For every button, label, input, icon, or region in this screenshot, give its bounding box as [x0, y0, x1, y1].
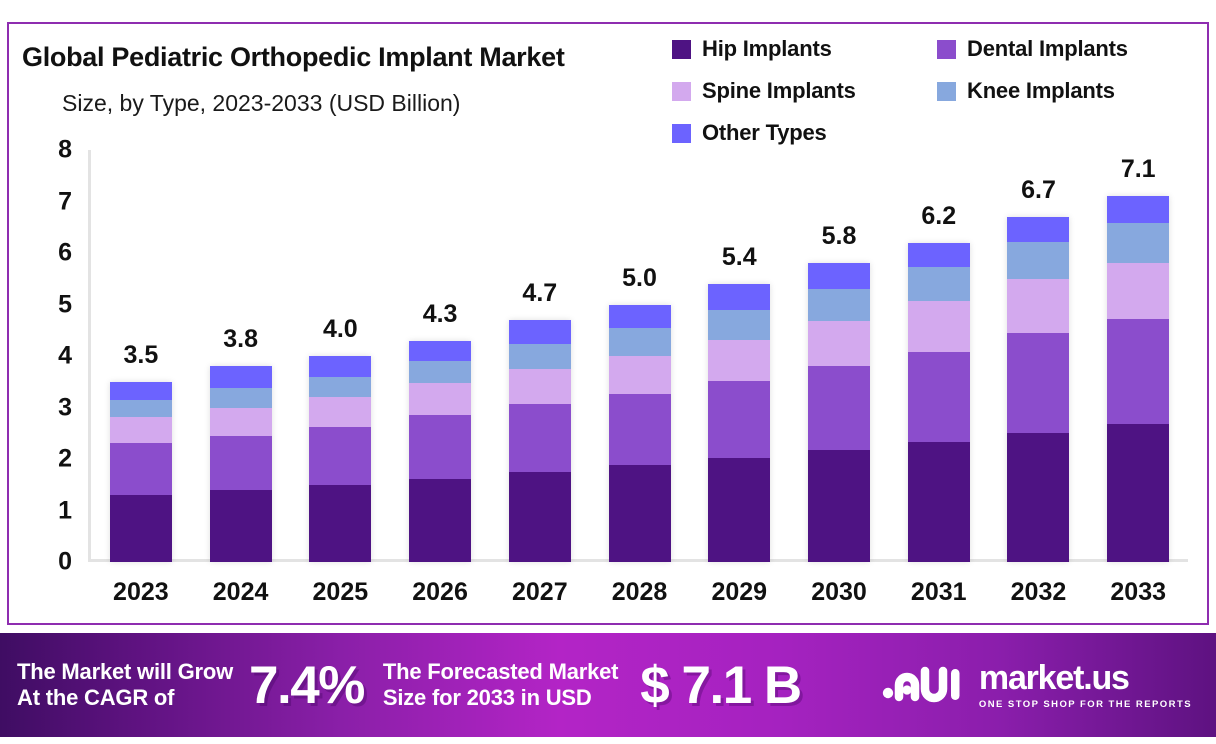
bar-segment-spine-implants: [708, 340, 770, 381]
bar-segment-other-types: [708, 284, 770, 310]
bar-column[interactable]: 3.8: [191, 150, 291, 562]
y-axis-tick-label: 7: [12, 187, 72, 216]
brand-tagline: ONE STOP SHOP FOR THE REPORTS: [979, 699, 1192, 710]
brand-name: market.us: [979, 661, 1192, 695]
x-axis-tick-label: 2025: [290, 578, 390, 607]
x-axis-tick-label: 2026: [390, 578, 490, 607]
bar-segment-hip-implants: [1007, 433, 1069, 562]
legend-swatch-icon: [937, 40, 956, 59]
legend-item-label: Dental Implants: [967, 36, 1128, 62]
bar-value-label: 6.2: [889, 202, 989, 231]
legend-item-spine-implants[interactable]: Spine Implants: [672, 70, 937, 112]
bar-segment-dental-implants: [1007, 333, 1069, 433]
bar-segment-spine-implants: [409, 383, 471, 414]
bar-segment-hip-implants: [509, 472, 571, 562]
bar-value-label: 4.0: [290, 315, 390, 344]
bar-segment-knee-implants: [409, 361, 471, 384]
bar-segment-hip-implants: [808, 450, 870, 562]
bar-segment-spine-implants: [908, 301, 970, 351]
legend-item-label: Spine Implants: [702, 78, 856, 104]
y-axis-tick-label: 0: [12, 548, 72, 577]
bar-series-group: 3.53.84.04.34.75.05.45.86.26.77.1: [91, 150, 1188, 562]
y-axis-tick-label: 5: [12, 290, 72, 319]
bar-column[interactable]: 4.0: [290, 150, 390, 562]
bar-column[interactable]: 5.0: [590, 150, 690, 562]
bar-segment-other-types: [309, 356, 371, 377]
bar-stack: [708, 284, 770, 562]
legend-swatch-icon: [672, 124, 691, 143]
legend-item-knee-implants[interactable]: Knee Implants: [937, 70, 1202, 112]
bar-stack: [808, 263, 870, 562]
bar-value-label: 5.8: [789, 222, 889, 251]
bar-stack: [908, 243, 970, 562]
bar-segment-hip-implants: [210, 490, 272, 562]
bar-segment-dental-implants: [1107, 319, 1169, 424]
legend-item-label: Knee Implants: [967, 78, 1115, 104]
bar-segment-other-types: [210, 366, 272, 388]
y-axis-tick-label: 6: [12, 239, 72, 268]
market-us-logo-icon: [881, 663, 967, 708]
bar-segment-spine-implants: [1107, 263, 1169, 320]
x-axis-tick-label: 2030: [789, 578, 889, 607]
bar-segment-hip-implants: [908, 442, 970, 562]
bar-segment-knee-implants: [509, 344, 571, 369]
bar-column[interactable]: 4.7: [490, 150, 590, 562]
bar-segment-knee-implants: [210, 388, 272, 408]
bar-stack: [409, 341, 471, 562]
bar-segment-spine-implants: [509, 369, 571, 404]
bar-segment-dental-implants: [409, 415, 471, 479]
bar-segment-knee-implants: [609, 328, 671, 356]
bar-segment-hip-implants: [1107, 424, 1169, 562]
bar-value-label: 4.7: [490, 279, 590, 308]
bar-column[interactable]: 6.2: [889, 150, 989, 562]
bar-segment-dental-implants: [309, 427, 371, 485]
x-axis-tick-label: 2028: [590, 578, 690, 607]
bar-stack: [210, 366, 272, 562]
x-axis-tick-label: 2027: [490, 578, 590, 607]
legend-item-dental-implants[interactable]: Dental Implants: [937, 28, 1202, 70]
forecast-label: The Forecasted Market Size for 2033 in U…: [383, 659, 618, 710]
y-axis-tick-label: 8: [12, 136, 72, 165]
bar-segment-dental-implants: [908, 352, 970, 442]
bar-segment-dental-implants: [509, 404, 571, 471]
bar-stack: [509, 320, 571, 562]
bar-column[interactable]: 5.8: [789, 150, 889, 562]
y-axis-tick-label: 3: [12, 393, 72, 422]
bar-segment-dental-implants: [110, 443, 172, 495]
y-axis-tick-label: 2: [12, 445, 72, 474]
bar-segment-other-types: [808, 263, 870, 289]
infographic-root: Global Pediatric Orthopedic Implant Mark…: [0, 0, 1216, 744]
bar-column[interactable]: 3.5: [91, 150, 191, 562]
bar-segment-knee-implants: [110, 400, 172, 417]
bar-value-label: 5.0: [590, 264, 690, 293]
chart-subtitle: Size, by Type, 2023-2033 (USD Billion): [62, 90, 460, 117]
bar-segment-knee-implants: [808, 289, 870, 321]
chart-legend: Hip ImplantsDental ImplantsSpine Implant…: [672, 28, 1202, 154]
bar-segment-knee-implants: [1007, 242, 1069, 279]
bar-segment-knee-implants: [1107, 223, 1169, 263]
bar-value-label: 5.4: [689, 243, 789, 272]
bar-column[interactable]: 5.4: [689, 150, 789, 562]
bar-value-label: 3.8: [191, 325, 291, 354]
forecast-value: $ 7.1 B: [640, 655, 800, 716]
plot-area: 012345678 3.53.84.04.34.75.05.45.86.26.7…: [88, 150, 1188, 562]
legend-item-label: Hip Implants: [702, 36, 832, 62]
x-axis-tick-label: 2024: [191, 578, 291, 607]
bar-segment-hip-implants: [708, 458, 770, 562]
bar-value-label: 6.7: [989, 176, 1089, 205]
bar-stack: [1007, 217, 1069, 562]
x-axis-tick-label: 2031: [889, 578, 989, 607]
legend-item-label: Other Types: [702, 120, 827, 146]
legend-item-hip-implants[interactable]: Hip Implants: [672, 28, 937, 70]
legend-swatch-icon: [672, 82, 691, 101]
bar-segment-knee-implants: [309, 377, 371, 398]
bar-stack: [1107, 196, 1169, 562]
bar-segment-spine-implants: [309, 397, 371, 427]
bar-segment-knee-implants: [908, 267, 970, 301]
x-axis-labels: 2023202420252026202720282029203020312032…: [91, 578, 1188, 607]
x-axis-tick-label: 2029: [689, 578, 789, 607]
x-axis-tick-label: 2023: [91, 578, 191, 607]
bar-segment-spine-implants: [1007, 279, 1069, 333]
y-axis-tick-label: 1: [12, 496, 72, 525]
bar-column[interactable]: 6.7: [989, 150, 1089, 562]
legend-swatch-icon: [937, 82, 956, 101]
cagr-value: 7.4%: [249, 655, 364, 716]
bar-segment-hip-implants: [609, 465, 671, 562]
bar-value-label: 7.1: [1088, 155, 1188, 184]
legend-swatch-icon: [672, 40, 691, 59]
bar-segment-other-types: [1107, 196, 1169, 222]
bar-value-label: 3.5: [91, 341, 191, 370]
bar-segment-spine-implants: [609, 356, 671, 394]
bar-segment-spine-implants: [110, 417, 172, 443]
bar-segment-other-types: [409, 341, 471, 361]
bar-column[interactable]: 7.1: [1088, 150, 1188, 562]
bar-stack: [609, 305, 671, 562]
bar-segment-other-types: [1007, 217, 1069, 242]
bar-segment-dental-implants: [808, 366, 870, 450]
legend-item-other-types[interactable]: Other Types: [672, 112, 937, 154]
bar-segment-dental-implants: [210, 436, 272, 490]
page-title: Global Pediatric Orthopedic Implant Mark…: [22, 42, 565, 73]
bar-stack: [309, 356, 371, 562]
footer-banner: The Market will Grow At the CAGR of 7.4%…: [0, 633, 1216, 737]
bar-segment-hip-implants: [409, 479, 471, 562]
x-axis-tick-label: 2033: [1088, 578, 1188, 607]
bar-segment-other-types: [908, 243, 970, 268]
brand-logo[interactable]: market.us ONE STOP SHOP FOR THE REPORTS: [881, 661, 1192, 710]
y-axis-tick-label: 4: [12, 342, 72, 371]
bar-segment-knee-implants: [708, 310, 770, 340]
bar-segment-other-types: [609, 305, 671, 328]
x-axis-tick-label: 2032: [989, 578, 1089, 607]
bar-segment-hip-implants: [110, 495, 172, 562]
bar-segment-spine-implants: [210, 408, 272, 436]
bar-segment-other-types: [509, 320, 571, 344]
bar-segment-spine-implants: [808, 321, 870, 366]
bar-column[interactable]: 4.3: [390, 150, 490, 562]
bar-segment-dental-implants: [609, 394, 671, 465]
bar-segment-other-types: [110, 382, 172, 401]
bar-segment-hip-implants: [309, 485, 371, 562]
bar-segment-dental-implants: [708, 381, 770, 458]
bar-value-label: 4.3: [390, 300, 490, 329]
cagr-label: The Market will Grow At the CAGR of: [17, 659, 233, 710]
bar-stack: [110, 382, 172, 562]
